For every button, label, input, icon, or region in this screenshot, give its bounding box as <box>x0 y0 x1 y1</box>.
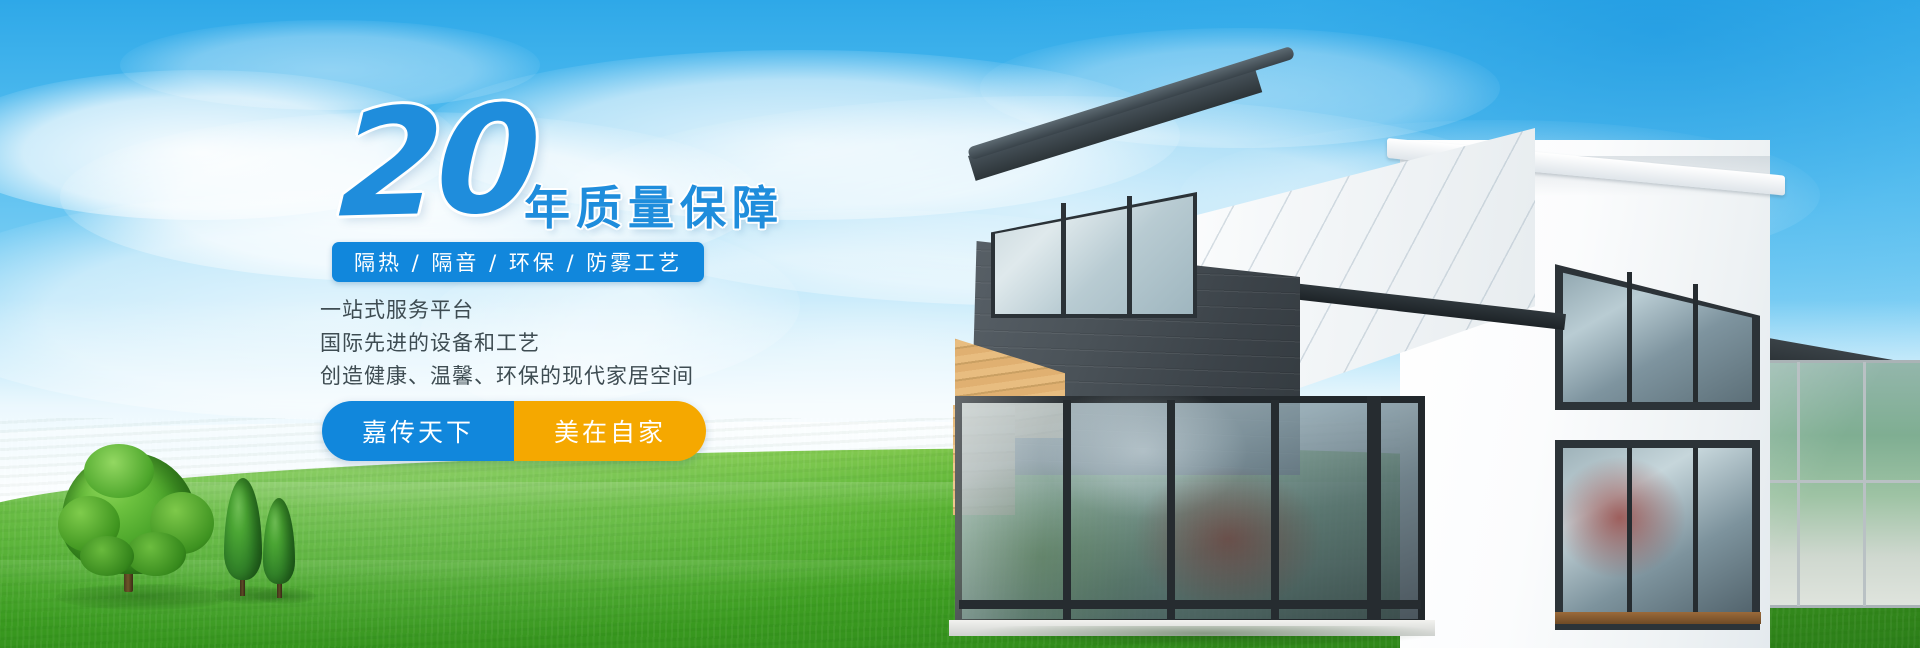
cta-primary-button[interactable]: 嘉传天下 <box>322 401 514 461</box>
window-sill <box>1555 612 1761 624</box>
cypress-canopy <box>263 498 295 584</box>
description-line-1: 一站式服务平台 <box>320 294 694 327</box>
headline-suffix: 年质量保障 <box>524 172 784 238</box>
tree-shadow <box>56 584 232 610</box>
mullion <box>1063 400 1071 622</box>
cypress-canopy <box>224 478 262 580</box>
door-rail <box>959 600 1421 609</box>
cypress-tree <box>262 498 298 600</box>
lower-right-window-glass <box>1563 448 1752 622</box>
cta-group[interactable]: 嘉传天下 美在自家 <box>322 401 706 461</box>
description-line-2: 国际先进的设备和工艺 <box>320 327 694 360</box>
corner-post <box>1367 396 1381 626</box>
tree-canopy-lobe <box>126 532 186 576</box>
mullion <box>1061 203 1066 315</box>
description-line-3: 创造健康、温馨、环保的现代家居空间 <box>320 360 694 393</box>
years-number: 20 <box>337 85 538 238</box>
mullion <box>1271 400 1279 622</box>
mullion <box>1127 196 1132 315</box>
tree-canopy-lobe <box>84 444 154 498</box>
mullion <box>1167 400 1175 622</box>
cta-secondary-button[interactable]: 美在自家 <box>514 401 706 461</box>
feature-pill: 隔热 / 隔音 / 环保 / 防雾工艺 <box>332 242 704 282</box>
mullion <box>1627 272 1632 402</box>
banner-content: 20 年质量保障 隔热 / 隔音 / 环保 / 防雾工艺 一站式服务平台 国际先… <box>312 96 1032 576</box>
broadleaf-tree <box>62 452 212 597</box>
mullion <box>1863 362 1866 606</box>
modern-glass-sunroom-house <box>1015 0 1920 648</box>
cypress-tree <box>222 478 264 598</box>
feature-pill-text: 隔热 / 隔音 / 环保 / 防雾工艺 <box>354 247 682 277</box>
tree-shadow <box>254 588 316 604</box>
mullion <box>1693 284 1698 402</box>
headline-group: 20 年质量保障 <box>312 96 1032 236</box>
description-block: 一站式服务平台 国际先进的设备和工艺 创造健康、温馨、环保的现代家居空间 <box>320 294 694 393</box>
tree-canopy-lobe <box>80 536 134 576</box>
building-ground-shadow <box>945 626 1465 648</box>
hero-banner: 20 年质量保障 隔热 / 隔音 / 环保 / 防雾工艺 一站式服务平台 国际先… <box>0 0 1920 648</box>
mullion <box>1797 362 1800 606</box>
mullion <box>1693 448 1698 622</box>
mullion <box>1627 448 1632 622</box>
